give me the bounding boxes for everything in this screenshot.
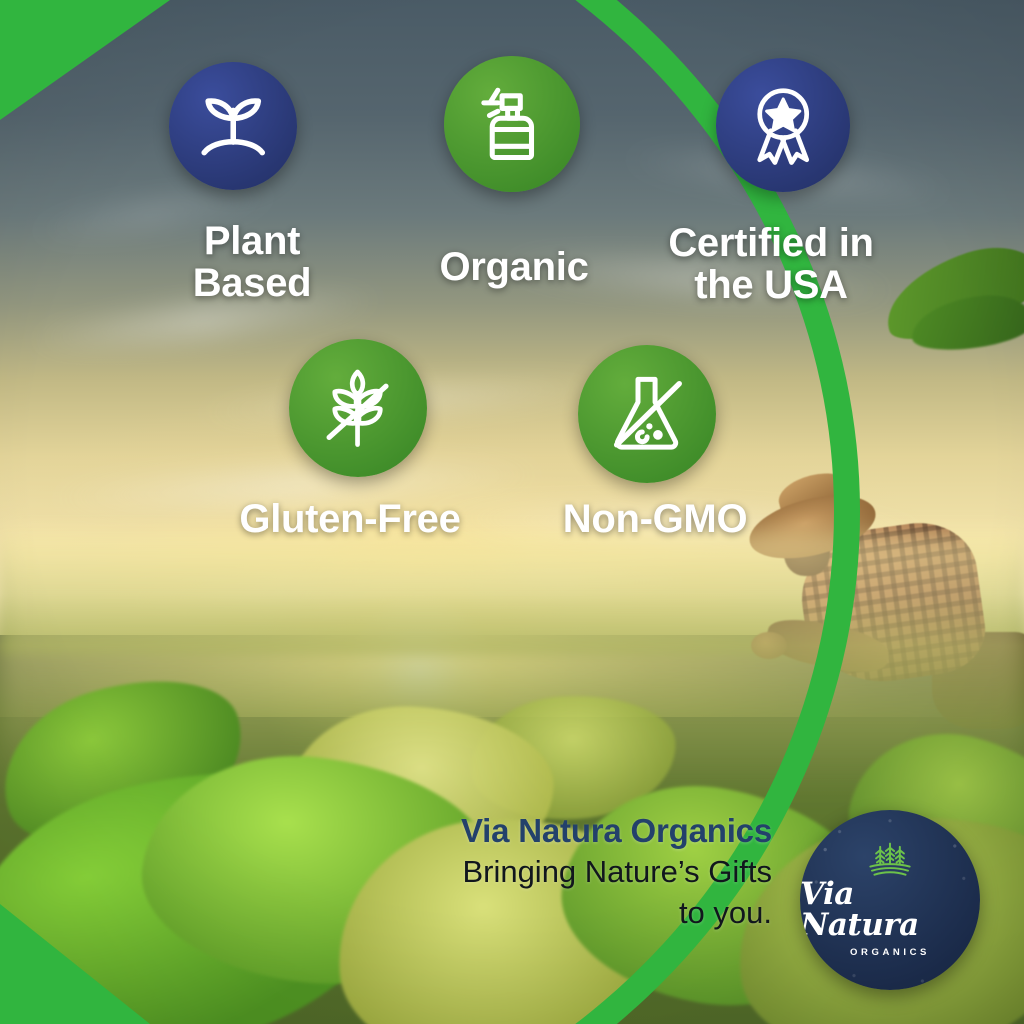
label-line-2: Based: [162, 262, 342, 304]
badge-label-gluten-free: Gluten-Free: [200, 498, 500, 540]
label-line-1: Gluten-Free: [200, 498, 500, 540]
badge-label-organic: Organic: [404, 246, 624, 288]
badge-gluten-free[interactable]: [289, 339, 427, 477]
label-line-2: the USA: [636, 264, 906, 306]
spray-bottle-icon: [467, 79, 557, 169]
badge-organic[interactable]: [444, 56, 580, 192]
badge-plant-based[interactable]: [169, 62, 297, 190]
promo-graphic: Plant Based Organic Certified in the USA…: [0, 0, 1024, 1024]
badge-certified-usa[interactable]: [716, 58, 850, 192]
badge-label-certified-usa: Certified in the USA: [636, 222, 906, 307]
brand-tagline-line-2: to you.: [300, 893, 772, 932]
flask-crossed-icon: [601, 368, 692, 459]
badge-non-gmo[interactable]: [578, 345, 716, 483]
brand-text-block: Via Natura Organics Bringing Nature’s Gi…: [300, 812, 772, 932]
brand-tagline-line-1: Bringing Nature’s Gifts: [300, 852, 772, 891]
label-line-1: Plant: [162, 220, 342, 262]
wheat-crossed-icon: [312, 362, 403, 453]
brand-logo-medallion[interactable]: Via Natura ORGANICS: [800, 810, 980, 990]
field-plants-icon: [863, 842, 917, 878]
label-line-1: Certified in: [636, 222, 906, 264]
brand-name: Via Natura Organics: [300, 812, 772, 850]
logo-script-text: Via Natura: [800, 879, 980, 941]
sprout-icon: [191, 84, 275, 168]
label-line-1: Organic: [404, 246, 624, 288]
badge-label-plant-based: Plant Based: [162, 220, 342, 305]
award-ribbon-icon: [739, 81, 827, 169]
logo-subtitle: ORGANICS: [850, 947, 930, 958]
label-line-1: Non-GMO: [530, 498, 780, 540]
badge-label-non-gmo: Non-GMO: [530, 498, 780, 540]
